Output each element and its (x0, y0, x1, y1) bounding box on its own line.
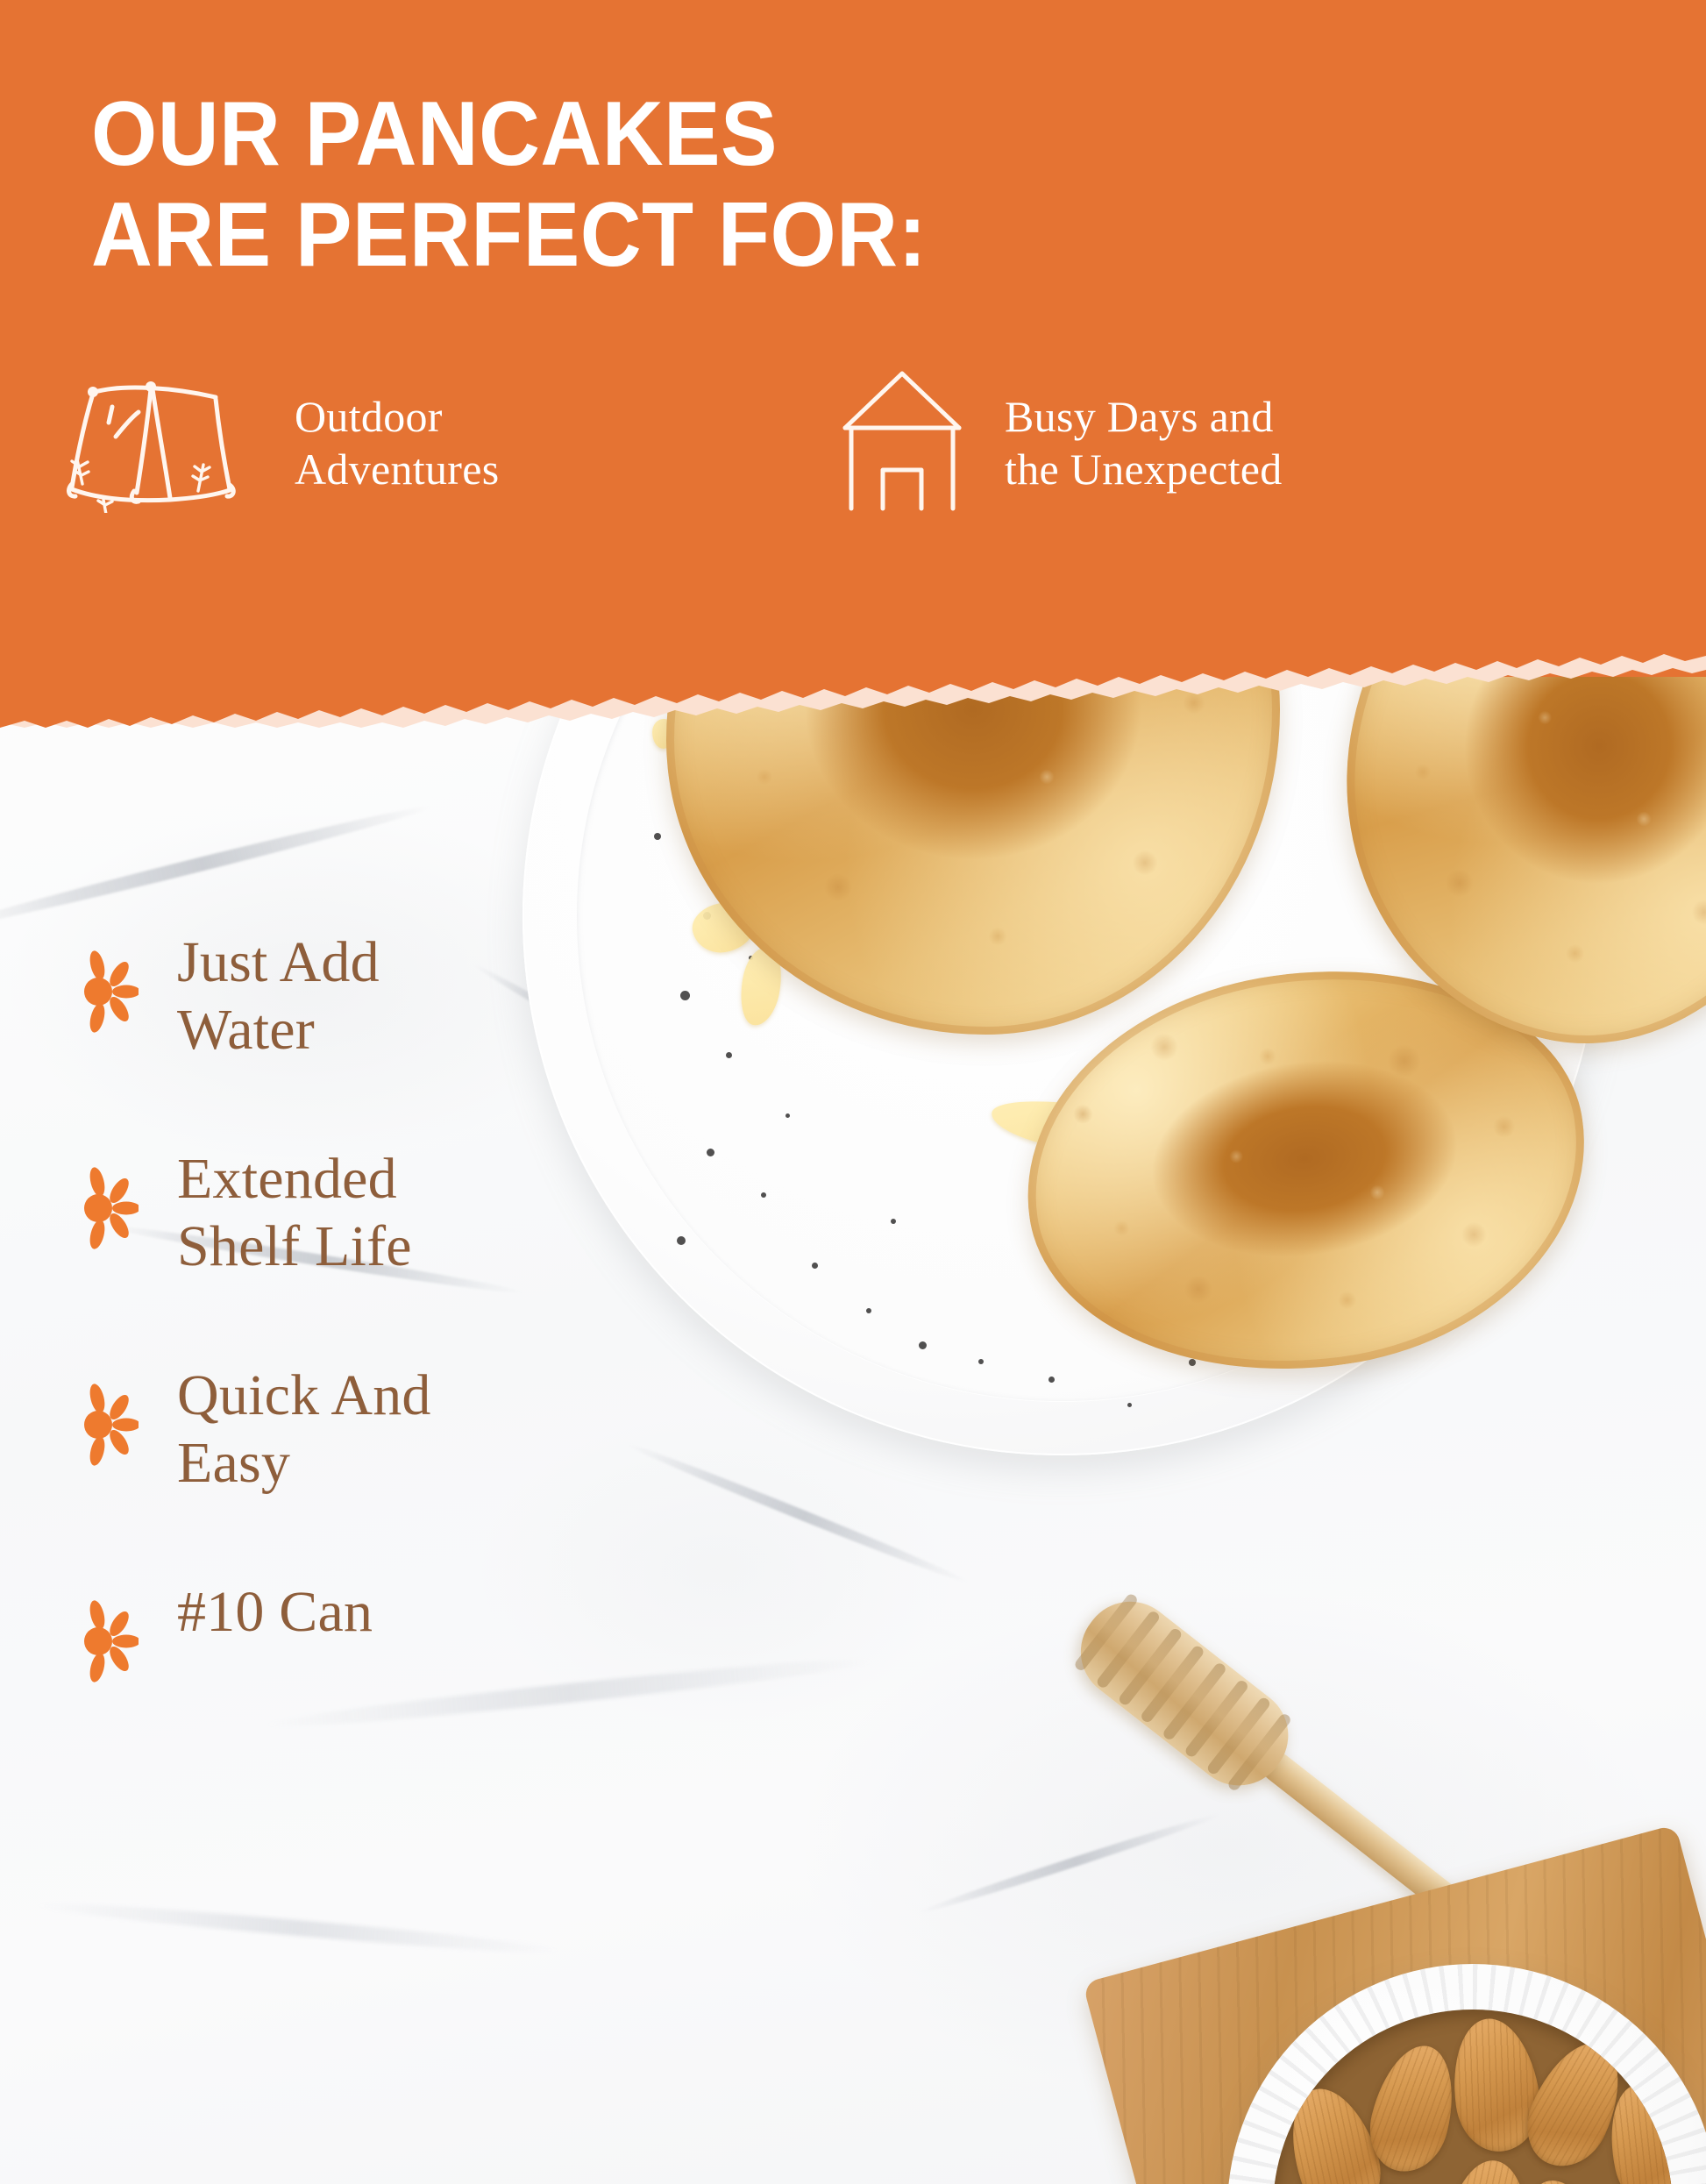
feature-label-busy-days: Busy Days and the Unexpected (1005, 390, 1283, 495)
feature-busy-days: Busy Days and the Unexpected (833, 368, 1283, 517)
house-icon (833, 368, 973, 517)
torn-paper-edge (0, 605, 1706, 728)
benefits-list: Just Add Water Extended Shelf Life (0, 929, 666, 1687)
feature-row: Outdoor Adventures (61, 368, 1648, 517)
sunburst-bullet-icon (84, 950, 139, 1037)
poster-canvas: OUR PANCAKES ARE PERFECT FOR: (0, 0, 1706, 2184)
list-item-label: Just Add Water (177, 929, 380, 1064)
page-title: OUR PANCAKES ARE PERFECT FOR: (91, 84, 927, 287)
list-item: Extended Shelf Life (0, 1146, 666, 1280)
sunburst-bullet-icon (84, 1167, 139, 1254)
list-item-label: #10 Can (177, 1579, 373, 1647)
sunburst-bullet-icon (84, 1600, 139, 1687)
list-item-label: Quick And Easy (177, 1362, 431, 1497)
list-item: Just Add Water (0, 929, 666, 1064)
list-item-label: Extended Shelf Life (177, 1146, 412, 1280)
orange-header-panel: OUR PANCAKES ARE PERFECT FOR: (0, 0, 1706, 677)
feature-label-outdoor-adventures: Outdoor Adventures (295, 390, 500, 495)
sunburst-bullet-icon (84, 1384, 139, 1470)
list-item: #10 Can (0, 1579, 666, 1687)
tent-icon (61, 368, 263, 517)
list-item: Quick And Easy (0, 1362, 666, 1497)
feature-outdoor-adventures: Outdoor Adventures (61, 368, 833, 517)
